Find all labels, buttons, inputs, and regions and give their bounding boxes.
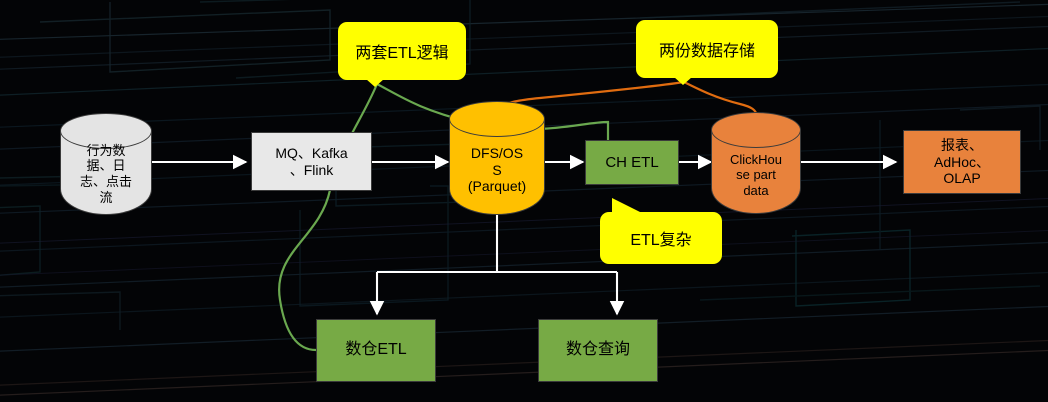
callout-two-data-storage-label: 两份数据存储	[659, 37, 755, 61]
node-source-cylinder[interactable]: 行为数 据、日 志、点击 流	[60, 113, 152, 215]
callout-etl-complex-tail	[610, 194, 670, 220]
cylinder-top	[449, 101, 545, 137]
node-serving-layer[interactable]: 报表、 AdHoc、 OLAP	[903, 130, 1021, 194]
node-ch-etl-label: CH ETL	[605, 154, 658, 172]
node-serving-label: 报表、 AdHoc、 OLAP	[934, 137, 990, 187]
node-dw-etl[interactable]: 数仓ETL	[316, 319, 436, 382]
callout-two-etl-logic-label: 两套ETL逻辑	[355, 39, 448, 63]
node-source-label: 行为数 据、日 志、点击 流	[60, 137, 152, 211]
callout-two-etl-logic[interactable]: 两套ETL逻辑	[338, 22, 466, 80]
node-mq-kafka-flink[interactable]: MQ、Kafka 、Flink	[251, 132, 372, 191]
node-dw-query[interactable]: 数仓查询	[538, 319, 658, 382]
node-mq-label: MQ、Kafka 、Flink	[275, 145, 347, 178]
node-dw-query-label: 数仓查询	[566, 341, 630, 360]
node-clickhouse-label: ClickHou se part data	[711, 142, 801, 208]
diagram-canvas: 行为数 据、日 志、点击 流 MQ、Kafka 、Flink DFS/OS S …	[0, 0, 1048, 402]
callout-two-etl-logic-tail	[366, 79, 384, 87]
node-clickhouse-cylinder[interactable]: ClickHou se part data	[711, 112, 801, 214]
node-ch-etl[interactable]: CH ETL	[585, 140, 679, 185]
callout-etl-complex-label: ETL复杂	[630, 226, 691, 250]
node-dw-etl-label: 数仓ETL	[345, 341, 406, 360]
callout-two-data-storage[interactable]: 两份数据存储	[636, 20, 778, 78]
callout-two-data-storage-tail	[674, 77, 692, 85]
node-dfs-label: DFS/OS S (Parquet)	[449, 135, 545, 205]
node-dfs-oss-cylinder[interactable]: DFS/OS S (Parquet)	[449, 101, 545, 215]
